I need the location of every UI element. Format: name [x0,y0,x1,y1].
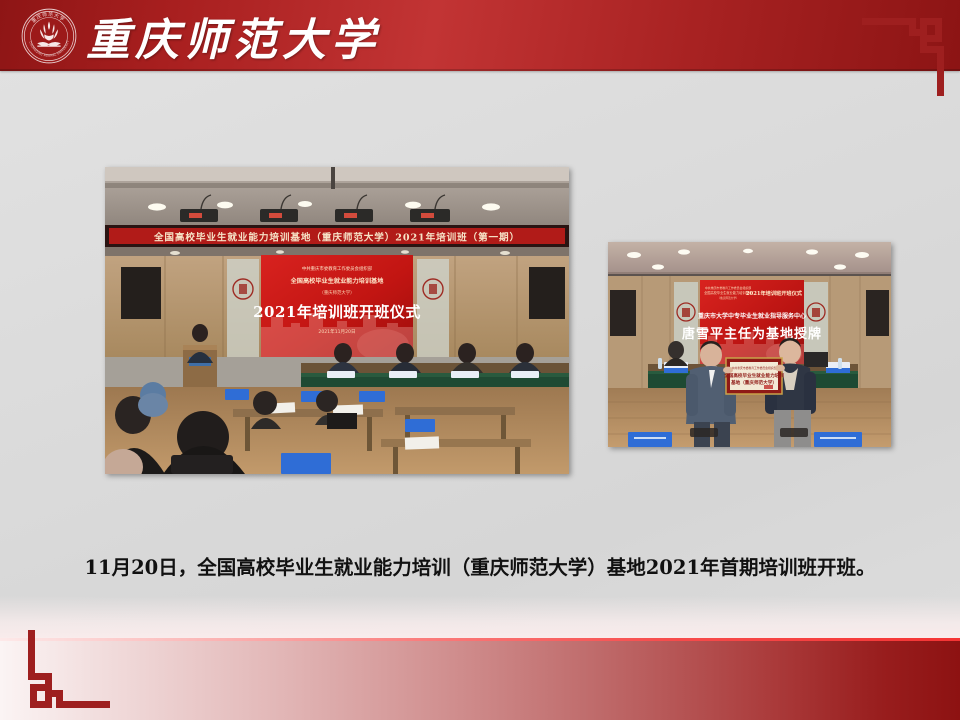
university-name: 重庆师范大学 [86,4,380,68]
photo1-screen-title: 2021年培训班开班仪式 [253,303,421,321]
svg-text:中共重庆市委教育工作委员会组织部: 中共重庆市委教育工作委员会组织部 [732,366,777,370]
chinese-corner-ornament-bottom-left [14,630,110,718]
photo2-screen-title: 唐雪平主任为基地授牌 [682,326,822,342]
svg-text:（重庆师范大学）: （重庆师范大学） [717,296,739,300]
photo1-screen-line2: 全国高校毕业生就业能力培训基地 [290,277,385,285]
award-plaque: 中共重庆市委教育工作委员会组织部 全国高校毕业生就业能力培训 基地（重庆师范大学… [723,358,784,394]
photo2-screen-line1: 重庆市大学中专毕业生就业指导服务中心 [698,312,806,320]
header-band: 重庆师范大学 CHONGQING NORMAL UNIVERSITY [0,0,960,71]
university-seal-icon: 重庆师范大学 CHONGQING NORMAL UNIVERSITY [21,8,77,64]
slide-caption: 11月20日，全国高校毕业生就业能力培训（重庆师范大学）基地2021年首期培训班… [0,551,960,580]
chinese-corner-ornament-top-right [862,8,958,96]
photo1-screen-line3: （重庆师范大学） [319,289,354,296]
photo1-screen-line1: 中共重庆市委教育工作委员会组织部 [302,265,373,272]
presentation-slide: 重庆师范大学 CHONGQING NORMAL UNIVERSITY [0,0,960,720]
svg-text:中共重庆市委教育工作委员会组织部: 中共重庆市委教育工作委员会组织部 [705,285,751,290]
plaque-line-2: 基地（重庆师范大学） [730,379,777,386]
bottom-fade-overlay [0,596,960,640]
bottom-gradient-band [0,638,960,720]
photo-opening-ceremony-hall: 全国高校毕业生就业能力培训基地（重庆师范大学）2021年培训班（第一期） [105,167,569,474]
photo-plaque-award-ceremony: 中共重庆市委教育工作委员会组织部 全国高校毕业生就业能力培训基地 （重庆师范大学… [608,242,891,447]
photo1-screen-date: 2021年11月20日 [318,328,355,335]
plaque-line-1: 全国高校毕业生就业能力培训 [723,372,784,379]
photo1-banner-text: 全国高校毕业生就业能力培训基地（重庆师范大学）2021年培训班（第一期） [153,232,520,244]
bottom-accent-line [0,638,960,641]
photo2-screen-top-small: 2021年培训班开班仪式 [746,289,803,297]
